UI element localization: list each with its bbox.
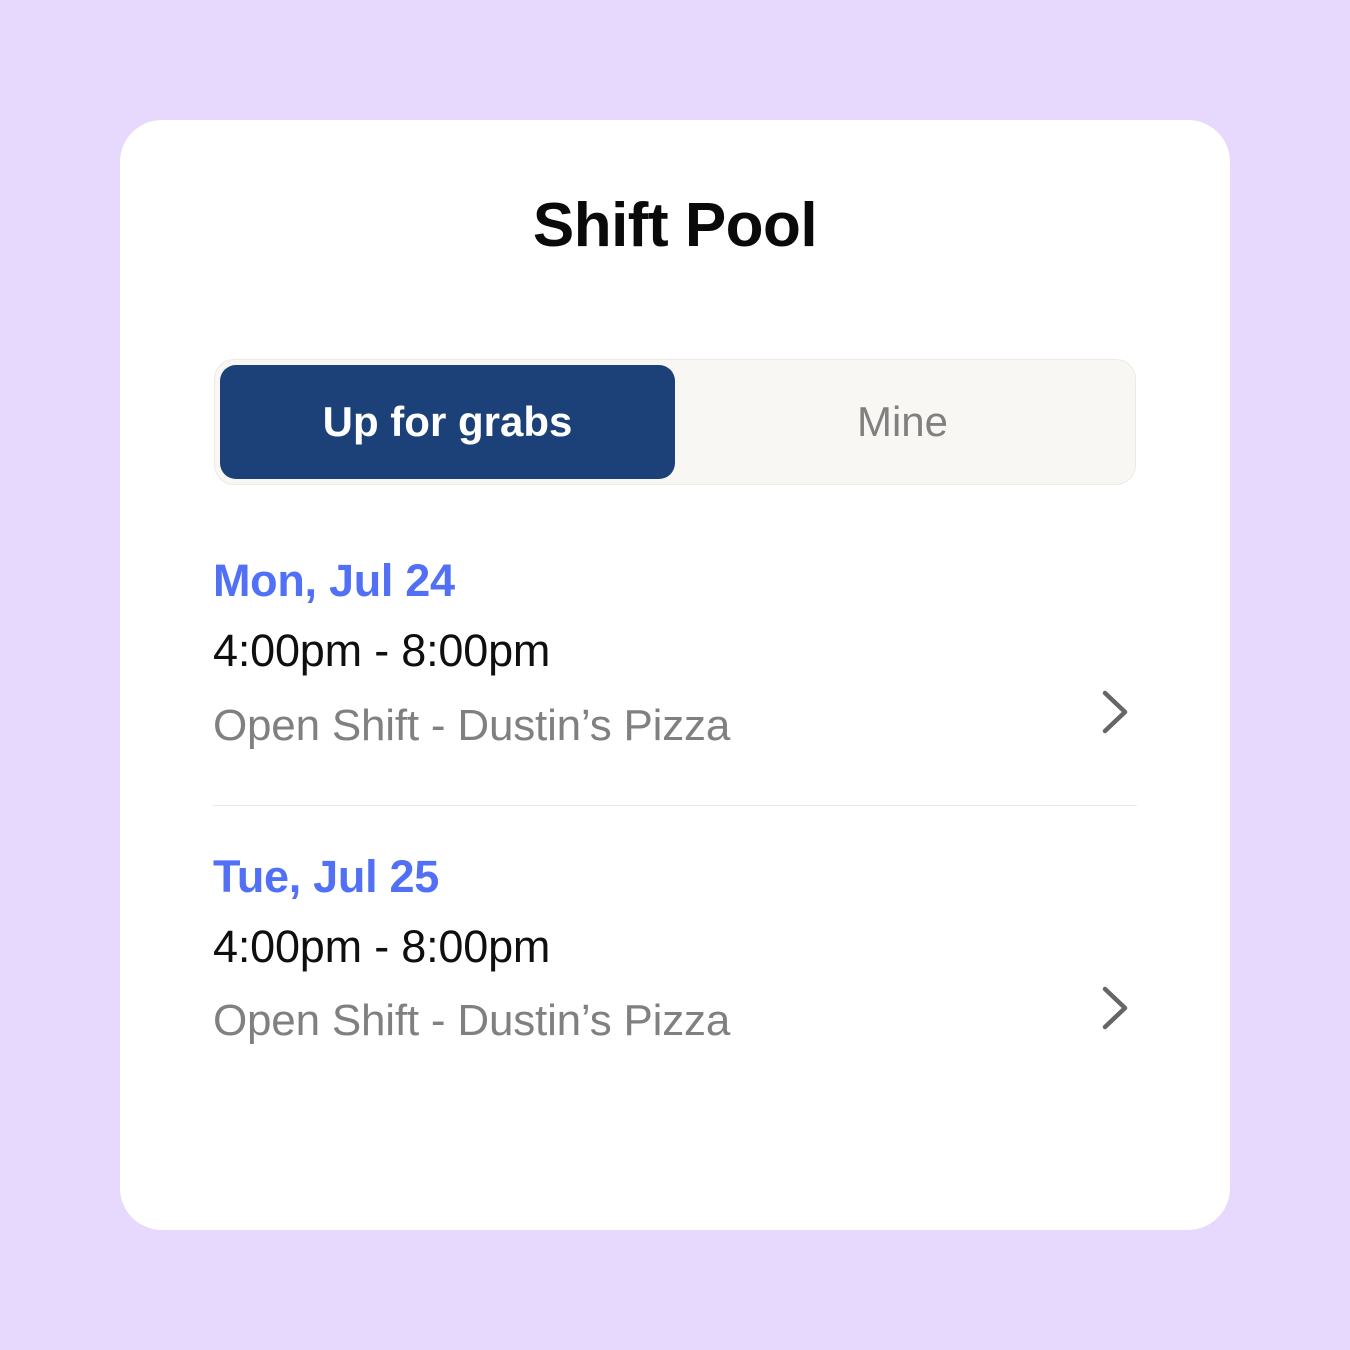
shift-time: 4:00pm - 8:00pm	[213, 919, 1137, 975]
shift-filter-tabs: Up for grabs Mine	[214, 359, 1136, 485]
page-title: Shift Pool	[120, 192, 1230, 260]
list-item[interactable]: Tue, Jul 25 4:00pm - 8:00pm Open Shift -…	[213, 841, 1137, 1071]
shift-details: Mon, Jul 24 4:00pm - 8:00pm Open Shift -…	[213, 545, 1137, 775]
shift-time: 4:00pm - 8:00pm	[213, 623, 1137, 679]
shift-list: Mon, Jul 24 4:00pm - 8:00pm Open Shift -…	[213, 545, 1137, 1070]
shift-date: Mon, Jul 24	[213, 553, 1137, 609]
screen: Shift Pool Up for grabs Mine Mon, Jul 24…	[0, 0, 1350, 1350]
tab-up-for-grabs[interactable]: Up for grabs	[220, 365, 675, 479]
tab-up-for-grabs-label: Up for grabs	[323, 401, 573, 443]
list-item[interactable]: Mon, Jul 24 4:00pm - 8:00pm Open Shift -…	[213, 545, 1137, 775]
shift-description: Open Shift - Dustin’s Pizza	[213, 993, 1137, 1048]
shift-description: Open Shift - Dustin’s Pizza	[213, 698, 1137, 753]
shift-pool-card: Shift Pool Up for grabs Mine Mon, Jul 24…	[120, 120, 1230, 1230]
shift-details: Tue, Jul 25 4:00pm - 8:00pm Open Shift -…	[213, 841, 1137, 1071]
shift-date: Tue, Jul 25	[213, 849, 1137, 905]
list-divider	[213, 805, 1137, 806]
chevron-right-icon[interactable]	[1099, 985, 1133, 1031]
tab-mine[interactable]: Mine	[675, 365, 1130, 479]
tab-mine-label: Mine	[857, 401, 948, 443]
chevron-right-icon[interactable]	[1099, 689, 1133, 735]
